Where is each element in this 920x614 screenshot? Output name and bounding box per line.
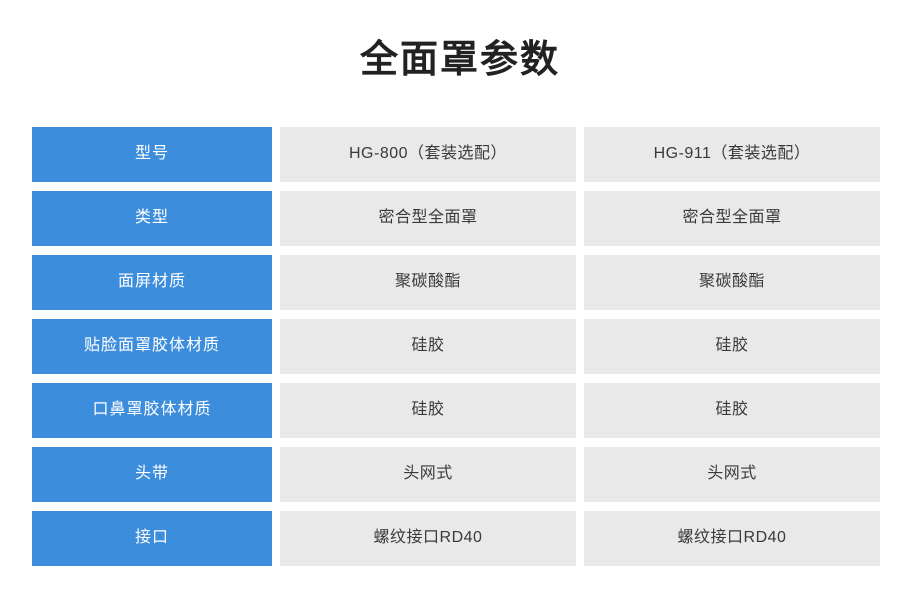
spec-value-model-b: HG-911（套装选配） [584,127,880,182]
column-gap [272,511,280,566]
spec-value-model-b: 硅胶 [584,319,880,374]
spec-value-model-a: 硅胶 [280,319,576,374]
spec-value-model-a: 密合型全面罩 [280,191,576,246]
column-gap [576,447,584,502]
table-row: 型号 HG-800（套装选配） HG-911（套装选配） [32,127,888,182]
spec-value-model-a: 聚碳酸酯 [280,255,576,310]
spec-value-model-b: 聚碳酸酯 [584,255,880,310]
spec-value-model-b: 螺纹接口RD40 [584,511,880,566]
spec-label: 型号 [32,127,272,182]
column-gap [576,511,584,566]
column-gap [272,383,280,438]
column-gap [272,319,280,374]
spec-label: 面屏材质 [32,255,272,310]
spec-value-model-a: HG-800（套装选配） [280,127,576,182]
column-gap [576,383,584,438]
table-row: 口鼻罩胶体材质 硅胶 硅胶 [32,383,888,438]
column-gap [272,255,280,310]
column-gap [576,191,584,246]
spec-value-model-b: 密合型全面罩 [584,191,880,246]
page-title: 全面罩参数 [0,0,920,84]
spec-value-model-a: 头网式 [280,447,576,502]
table-row: 面屏材质 聚碳酸酯 聚碳酸酯 [32,255,888,310]
column-gap [272,127,280,182]
spec-value-model-b: 硅胶 [584,383,880,438]
spec-label: 口鼻罩胶体材质 [32,383,272,438]
column-gap [576,127,584,182]
spec-value-model-a: 硅胶 [280,383,576,438]
spec-label: 接口 [32,511,272,566]
spec-sheet-page: 全面罩参数 型号 HG-800（套装选配） HG-911（套装选配） 类型 密合… [0,0,920,614]
column-gap [576,255,584,310]
spec-label: 类型 [32,191,272,246]
table-row: 头带 头网式 头网式 [32,447,888,502]
spec-table: 型号 HG-800（套装选配） HG-911（套装选配） 类型 密合型全面罩 密… [32,127,888,575]
table-row: 接口 螺纹接口RD40 螺纹接口RD40 [32,511,888,566]
spec-value-model-a: 螺纹接口RD40 [280,511,576,566]
column-gap [272,447,280,502]
column-gap [576,319,584,374]
spec-label: 贴脸面罩胶体材质 [32,319,272,374]
table-row: 类型 密合型全面罩 密合型全面罩 [32,191,888,246]
table-row: 贴脸面罩胶体材质 硅胶 硅胶 [32,319,888,374]
column-gap [272,191,280,246]
spec-value-model-b: 头网式 [584,447,880,502]
spec-label: 头带 [32,447,272,502]
